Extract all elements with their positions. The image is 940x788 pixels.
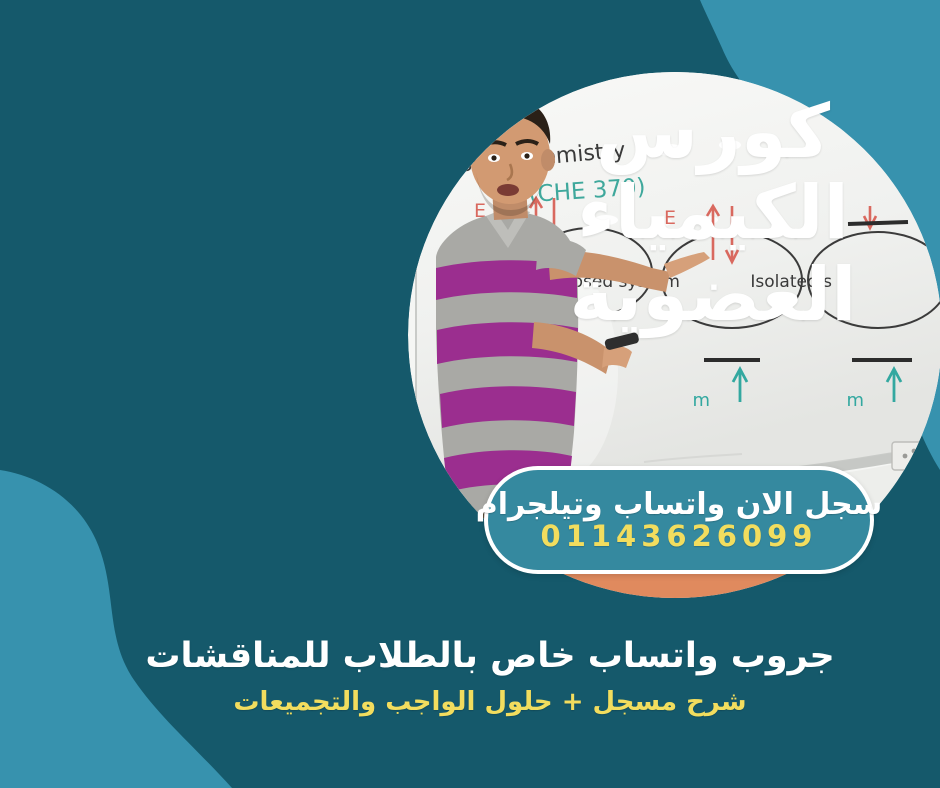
headline-line-3: العضوية [548, 255, 878, 336]
cta-label: سجل الان واتساب وتيلجرام [476, 490, 883, 520]
register-cta-button[interactable]: سجل الان واتساب وتيلجرام 01143626099 [484, 466, 874, 574]
footer-text-block: جروب واتساب خاص بالطلاب للمناقشات شرح مس… [0, 636, 940, 718]
mass-label-closed: m [692, 390, 710, 411]
instructor-pupil [491, 155, 496, 160]
cta-phone-number[interactable]: 01143626099 [541, 522, 818, 551]
mass-label-isolated: m [846, 390, 864, 411]
headline: كورس الكيمياء العضوية [548, 92, 878, 336]
instructor-pupil [524, 153, 529, 158]
footer-headline: جروب واتساب خاص بالطلاب للمناقشات [40, 636, 940, 677]
promo-poster: Physical chemistry (CHE 370) system E [0, 0, 940, 788]
headline-line-1: كورس [548, 92, 878, 173]
instructor-mouth [497, 184, 519, 196]
footer-subline: شرح مسجل + حلول الواجب والتجميعات [40, 687, 940, 718]
headline-line-2: الكيمياء [548, 173, 878, 254]
